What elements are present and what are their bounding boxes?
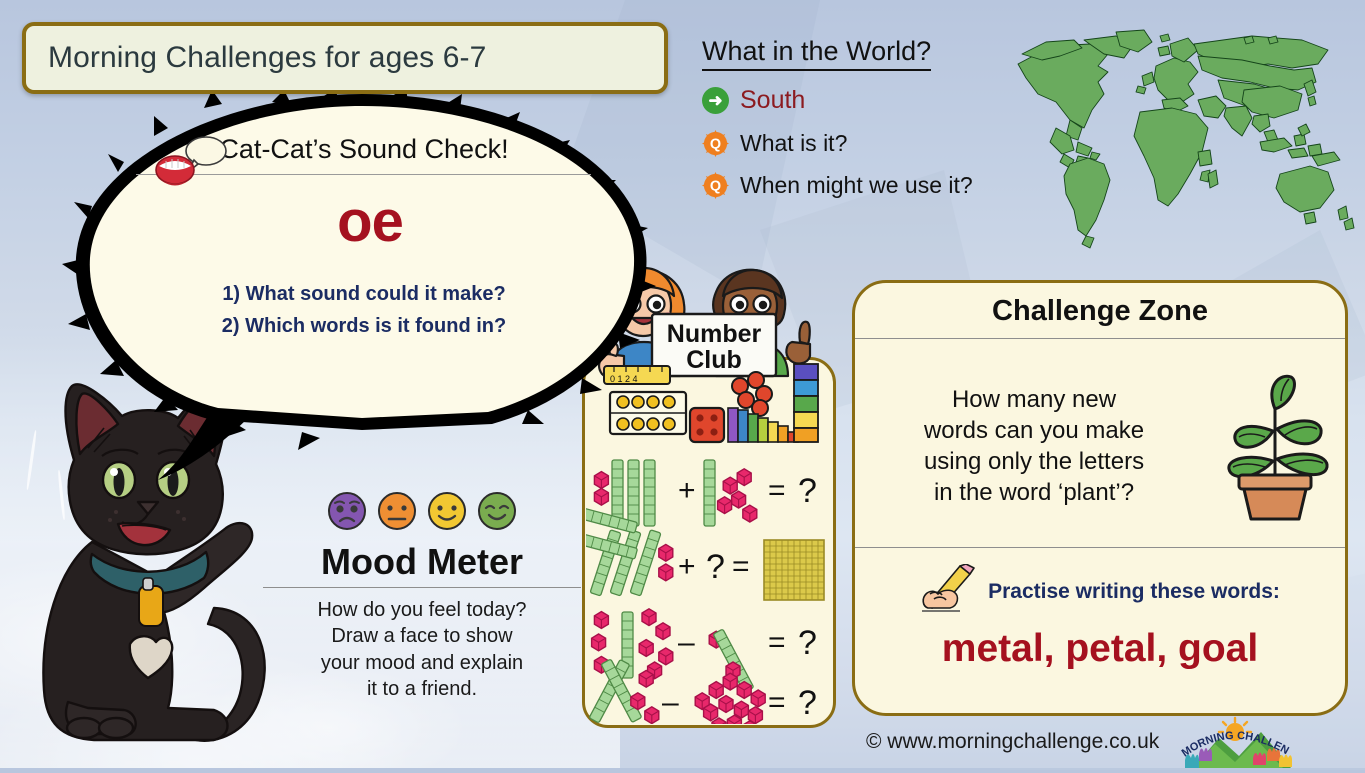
svg-text:=: = (768, 474, 786, 507)
dice-icon (690, 408, 724, 442)
svg-text:–: – (662, 686, 679, 719)
svg-text:=: = (768, 626, 786, 659)
what-in-the-world-section: What in the World? ➜ South Q What is it? (702, 36, 1032, 199)
divider (855, 547, 1345, 548)
hundred-flat-icon (764, 540, 824, 600)
page-title-banner: Morning Challenges for ages 6-7 (22, 22, 668, 94)
neutral-face-icon (376, 490, 418, 537)
sad-face-icon (326, 490, 368, 537)
number-club-equations: + = ? + ? = (586, 452, 834, 724)
challenge-zone-prompt: How many new words can you make using on… (855, 384, 1205, 509)
practise-words: metal, petal, goal (855, 627, 1345, 671)
challenge-zone-prompt-line: in the word ‘plant’? (863, 477, 1205, 508)
svg-text:?: ? (798, 684, 817, 722)
svg-text:Q: Q (710, 136, 721, 152)
svg-text:=: = (732, 550, 750, 583)
world-map (1012, 24, 1362, 264)
potted-plant-icon (1205, 371, 1345, 521)
phoneme-row: oe (154, 193, 574, 251)
what-in-the-world-answer-row: ➜ South (702, 86, 1032, 115)
what-in-the-world-title: What in the World? (702, 36, 931, 71)
question-badge-icon: Q (702, 172, 729, 199)
practise-label: Practise writing these words: (988, 580, 1280, 604)
challenge-zone-prompt-line: words can you make (863, 415, 1205, 446)
challenge-zone-prompt-line: How many new (863, 384, 1205, 415)
svg-text:?: ? (706, 548, 725, 586)
svg-text:+: + (678, 474, 696, 507)
svg-text:–: – (678, 626, 695, 659)
green-arrow-icon: ➜ (702, 87, 729, 114)
svg-text:+: + (678, 550, 696, 583)
sound-check-speech-bubble: Cat-Cat’s Sound Check! oe (62, 88, 662, 478)
equation-row-3: – = ? (592, 609, 817, 693)
what-in-the-world-question-1: Q What is it? (702, 130, 1032, 157)
svg-text:Q: Q (710, 178, 721, 194)
svg-text:?: ? (798, 624, 817, 662)
equation-row-4: – = ? (589, 659, 817, 724)
question-badge-icon: Q (702, 130, 729, 157)
practise-row: Practise writing these words: (855, 564, 1345, 619)
phoneme-text: oe (337, 193, 403, 251)
challenge-zone-prompt-line: using only the letters (863, 446, 1205, 477)
challenge-zone-title: Challenge Zone (855, 283, 1345, 328)
what-in-the-world-question-text: When might we use it? (740, 172, 973, 199)
sound-check-question-1: 1) What sound could it make? (154, 283, 574, 306)
challenge-zone-panel: Challenge Zone How many new words can yo… (852, 280, 1348, 716)
unit-cluster (695, 673, 765, 724)
svg-text:?: ? (798, 472, 817, 510)
what-in-the-world-question-text: What is it? (740, 130, 847, 157)
cube-tower-icon (794, 364, 818, 442)
hand-with-pencil-icon (920, 564, 978, 619)
very-happy-face-icon (476, 490, 518, 537)
happy-face-icon (426, 490, 468, 537)
what-in-the-world-answer: South (740, 86, 805, 115)
copyright-text: © www.morningchallenge.co.uk (866, 730, 1159, 754)
page-title: Morning Challenges for ages 6-7 (26, 41, 486, 75)
sound-check-content: Cat-Cat’s Sound Check! oe (154, 134, 574, 338)
morning-challenge-logo: MORNING CHALLENGE (1165, 716, 1295, 768)
what-in-the-world-question-2: Q When might we use it? (702, 172, 1032, 199)
number-club-title-line-1: Number (667, 320, 762, 348)
svg-text:=: = (768, 686, 786, 719)
footer: © www.morningchallenge.co.uk (866, 716, 1295, 768)
sound-check-question-2: 2) Which words is it found in? (154, 315, 574, 338)
